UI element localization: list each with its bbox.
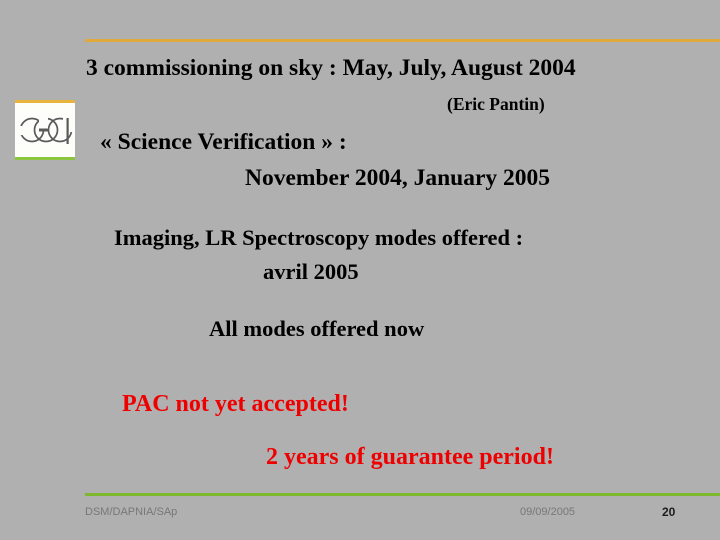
line-science-verification-dates: November 2004, January 2005 [245, 166, 550, 191]
slide-canvas: 3 commissioning on sky : May, July, Augu… [0, 0, 720, 540]
footer-date: 09/09/2005 [520, 506, 575, 518]
line-all-modes-offered: All modes offered now [209, 317, 424, 341]
line-modes-offered: Imaging, LR Spectroscopy modes offered : [114, 226, 523, 250]
slide-body: 3 commissioning on sky : May, July, Augu… [0, 0, 720, 540]
line-commissioning: 3 commissioning on sky : May, July, Augu… [86, 56, 576, 81]
line-science-verification-heading: « Science Verification » : [100, 130, 347, 155]
line-modes-date: avril 2005 [263, 260, 359, 284]
line-pac-not-accepted: PAC not yet accepted! [122, 392, 349, 417]
bottom-accent-rule [85, 493, 720, 496]
footer-page-number: 20 [662, 505, 675, 519]
line-guarantee-period: 2 years of guarantee period! [266, 445, 554, 470]
footer-organization: DSM/DAPNIA/SAp [85, 506, 177, 518]
line-author: (Eric Pantin) [447, 95, 545, 113]
